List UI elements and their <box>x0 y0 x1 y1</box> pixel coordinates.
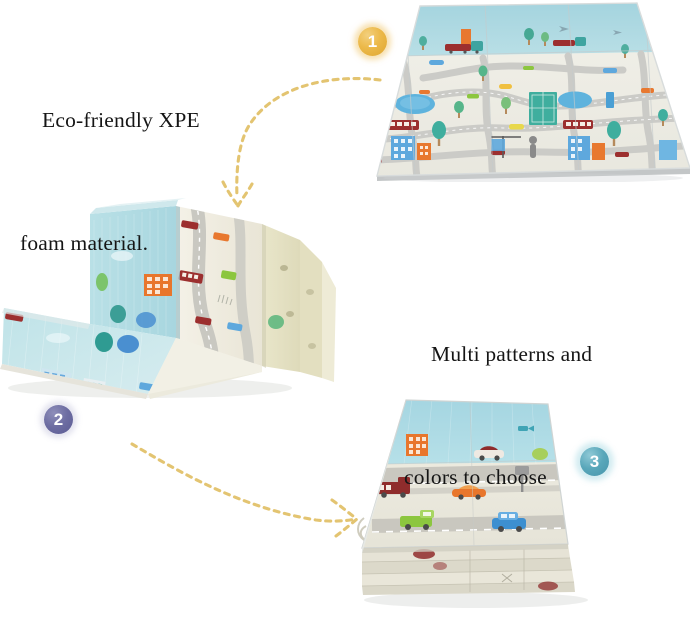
infographic-canvas: Eco-friendly XPE foam material. Multi pa… <box>0 0 690 619</box>
step-badge-2: 2 <box>44 405 73 434</box>
step-badge-2-label: 2 <box>54 410 63 430</box>
caption-multi-patterns-line1: Multi patterns and <box>404 334 592 375</box>
caption-eco-friendly-line2: foam material. <box>20 223 200 264</box>
caption-eco-friendly: Eco-friendly XPE foam material. <box>20 18 200 346</box>
step-badge-3-label: 3 <box>590 452 599 472</box>
caption-multi-patterns-line2: colors to choose <box>404 457 592 498</box>
caption-multi-patterns: Multi patterns and colors to choose <box>404 252 592 580</box>
step-badge-1: 1 <box>358 27 387 56</box>
step-badge-3: 3 <box>580 447 609 476</box>
product-image-unfolded-mat <box>363 0 690 182</box>
caption-eco-friendly-line1: Eco-friendly XPE <box>20 100 200 141</box>
arrow-one <box>223 79 380 206</box>
step-badge-1-label: 1 <box>368 32 377 52</box>
arrow-two <box>132 444 357 536</box>
